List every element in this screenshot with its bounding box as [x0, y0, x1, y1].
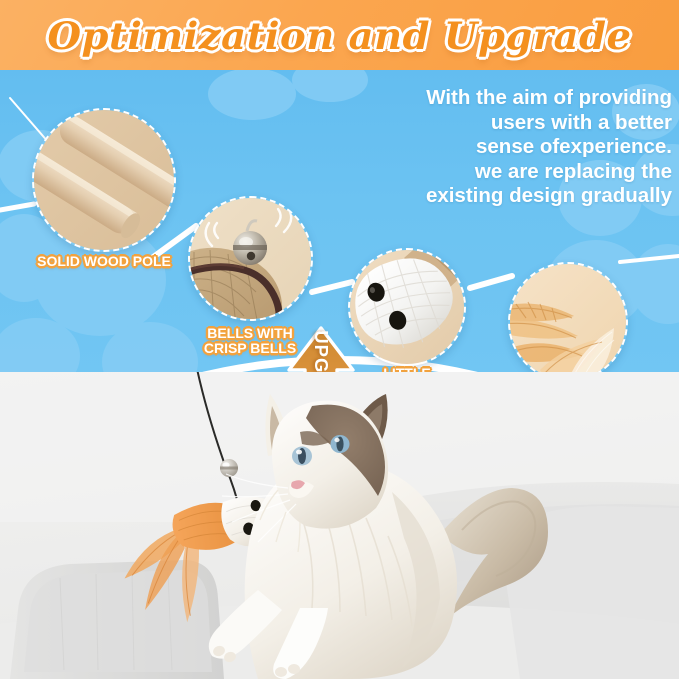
feathers-photo-icon: [508, 262, 628, 382]
intro-line-1: With the aim of providing: [372, 86, 672, 111]
knit-mouse-photo-icon: [348, 248, 466, 366]
callout-image-feathers: [508, 262, 628, 382]
callout-solid-wood-pole[interactable]: SOLID WOOD POLE: [32, 108, 176, 252]
intro-line-3: sense ofexperience.: [372, 135, 672, 160]
header-banner: Optimization and Upgrade: [0, 0, 679, 72]
bell-photo-icon: [188, 196, 313, 321]
callout-image-bells: [188, 196, 313, 321]
intro-line-4: we are replacing the: [372, 160, 672, 185]
wood-pole-photo-icon: [32, 108, 176, 252]
callout-image-solid-wood-pole: [32, 108, 176, 252]
intro-line-2: users with a better: [372, 111, 672, 136]
callout-bells-with-crisp-bells[interactable]: BELLS WITH CRISP BELLS: [188, 196, 313, 321]
product-infographic: Optimization and Upgrade: [0, 0, 679, 679]
intro-line-5: existing design gradually: [372, 184, 672, 209]
callout-image-mouse: [348, 248, 466, 366]
page-title: Optimization and Upgrade: [0, 0, 679, 72]
product-lifestyle-photo: [0, 372, 679, 679]
intro-paragraph: With the aim of providing users with a b…: [372, 86, 672, 209]
callout-label-solid-wood-pole: SOLID WOOD POLE: [2, 254, 206, 269]
callout-natural-feathers[interactable]: NATURAL FEATHERS: [508, 262, 628, 382]
cat-playing-scene-icon: [0, 372, 679, 679]
callout-little-mouse-shape[interactable]: LITTLE MOUSE SHAPE: [348, 248, 466, 366]
